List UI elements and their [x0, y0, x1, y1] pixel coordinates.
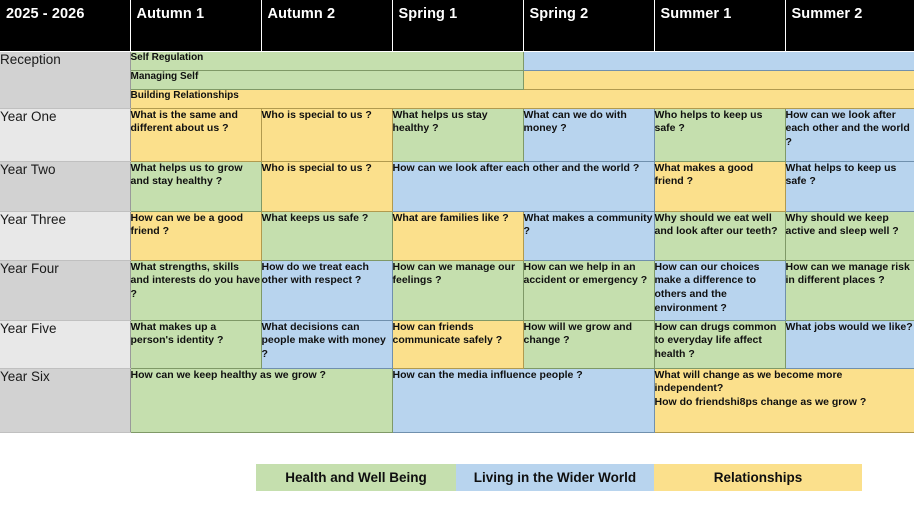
legend-item-relationships: Relationships	[654, 464, 862, 491]
table-row-reception-building-relationships: Building Relationships	[0, 89, 914, 108]
reception-band-managing-self-right	[523, 70, 914, 89]
header-term-summer-2: Summer 2	[785, 0, 914, 51]
table-header-row: 2025 - 2026 Autumn 1 Autumn 2 Spring 1 S…	[0, 0, 914, 51]
reception-band-self-regulation-right	[523, 51, 914, 70]
legend-label-living-in-the-wider-world: Living in the Wider World	[474, 470, 636, 485]
header-term-summer-1: Summer 1	[654, 0, 785, 51]
table-row-year-four: Year Four What strengths, skills and int…	[0, 260, 914, 320]
cell-year-three-autumn-1: How can we be a good friend ?	[130, 211, 261, 260]
cell-year-five-autumn-1: What makes up a person's identity ?	[130, 320, 261, 368]
cell-year-three-summer-2: Why should we keep active and sleep well…	[785, 211, 914, 260]
header-term-spring-2: Spring 2	[523, 0, 654, 51]
cell-year-six-spring: How can the media influence people ?	[392, 368, 654, 432]
year-label-year-three: Year Three	[0, 211, 130, 260]
table-row-reception-managing-self: Managing Self	[0, 70, 914, 89]
table-row-year-two: Year Two What helps us to grow and stay …	[0, 161, 914, 211]
table-row-year-five: Year Five What makes up a person's ident…	[0, 320, 914, 368]
table-row-year-six: Year Six How can we keep healthy as we g…	[0, 368, 914, 432]
header-term-autumn-2: Autumn 2	[261, 0, 392, 51]
cell-year-one-spring-1: What helps us stay healthy ?	[392, 108, 523, 161]
reception-band-building-relationships: Building Relationships	[130, 89, 914, 108]
header-year-title: 2025 - 2026	[0, 0, 130, 51]
legend-item-health-and-well-being: Health and Well Being	[256, 464, 456, 491]
cell-year-three-spring-1: What are families like ?	[392, 211, 523, 260]
cell-year-four-summer-1: How can our choices make a difference to…	[654, 260, 785, 320]
cell-year-one-summer-1: Who helps to keep us safe ?	[654, 108, 785, 161]
cell-year-four-summer-2: How can we manage risk in different plac…	[785, 260, 914, 320]
cell-year-one-autumn-2: Who is special to us ?	[261, 108, 392, 161]
cell-year-one-autumn-1: What is the same and different about us …	[130, 108, 261, 161]
cell-year-one-summer-2: How can we look after each other and the…	[785, 108, 914, 161]
cell-year-five-summer-1: How can drugs common to everyday life af…	[654, 320, 785, 368]
legend-label-health-and-well-being: Health and Well Being	[285, 470, 427, 485]
year-label-year-one: Year One	[0, 108, 130, 161]
legend: Health and Well Being Living in the Wide…	[256, 464, 862, 491]
table-row-year-one: Year One What is the same and different …	[0, 108, 914, 161]
curriculum-overview-table: 2025 - 2026 Autumn 1 Autumn 2 Spring 1 S…	[0, 0, 914, 433]
cell-year-three-spring-2: What makes a community ?	[523, 211, 654, 260]
cell-year-two-autumn-2: Who is special to us ?	[261, 161, 392, 211]
cell-year-five-autumn-2: What decisions can people make with mone…	[261, 320, 392, 368]
cell-year-six-summer-line-2: How do friendshi8ps change as we grow ?	[655, 396, 914, 410]
cell-year-four-autumn-2: How do we treat each other with respect …	[261, 260, 392, 320]
table-row-year-three: Year Three How can we be a good friend ?…	[0, 211, 914, 260]
cell-year-two-summer-1: What makes a good friend ?	[654, 161, 785, 211]
cell-year-six-summer: What will change as we become more indep…	[654, 368, 914, 432]
year-label-year-four: Year Four	[0, 260, 130, 320]
cell-year-five-spring-1: How can friends communicate safely ?	[392, 320, 523, 368]
cell-year-four-autumn-1: What strengths, skills and interests do …	[130, 260, 261, 320]
cell-year-five-spring-2: How will we grow and change ?	[523, 320, 654, 368]
legend-label-relationships: Relationships	[714, 470, 803, 485]
cell-year-two-autumn-1: What helps us to grow and stay healthy ?	[130, 161, 261, 211]
cell-year-six-autumn: How can we keep healthy as we grow ?	[130, 368, 392, 432]
cell-year-five-summer-2: What jobs would we like?	[785, 320, 914, 368]
header-term-spring-1: Spring 1	[392, 0, 523, 51]
reception-band-self-regulation: Self Regulation	[130, 51, 523, 70]
reception-band-managing-self: Managing Self	[130, 70, 523, 89]
year-label-reception: Reception	[0, 51, 130, 108]
cell-year-two-spring: How can we look after each other and the…	[392, 161, 654, 211]
cell-year-six-summer-line-1: What will change as we become more indep…	[655, 369, 914, 397]
cell-year-two-summer-2: What helps to keep us safe ?	[785, 161, 914, 211]
header-term-autumn-1: Autumn 1	[130, 0, 261, 51]
cell-year-three-autumn-2: What keeps us safe ?	[261, 211, 392, 260]
year-label-year-six: Year Six	[0, 368, 130, 432]
cell-year-four-spring-1: How can we manage our feelings ?	[392, 260, 523, 320]
cell-year-one-spring-2: What can we do with money ?	[523, 108, 654, 161]
curriculum-map-page: 2025 - 2026 Autumn 1 Autumn 2 Spring 1 S…	[0, 0, 914, 514]
cell-year-three-summer-1: Why should we eat well and look after ou…	[654, 211, 785, 260]
year-label-year-five: Year Five	[0, 320, 130, 368]
table-row-reception: Reception Self Regulation	[0, 51, 914, 70]
legend-item-living-in-the-wider-world: Living in the Wider World	[456, 464, 654, 491]
cell-year-four-spring-2: How can we help in an accident or emerge…	[523, 260, 654, 320]
year-label-year-two: Year Two	[0, 161, 130, 211]
